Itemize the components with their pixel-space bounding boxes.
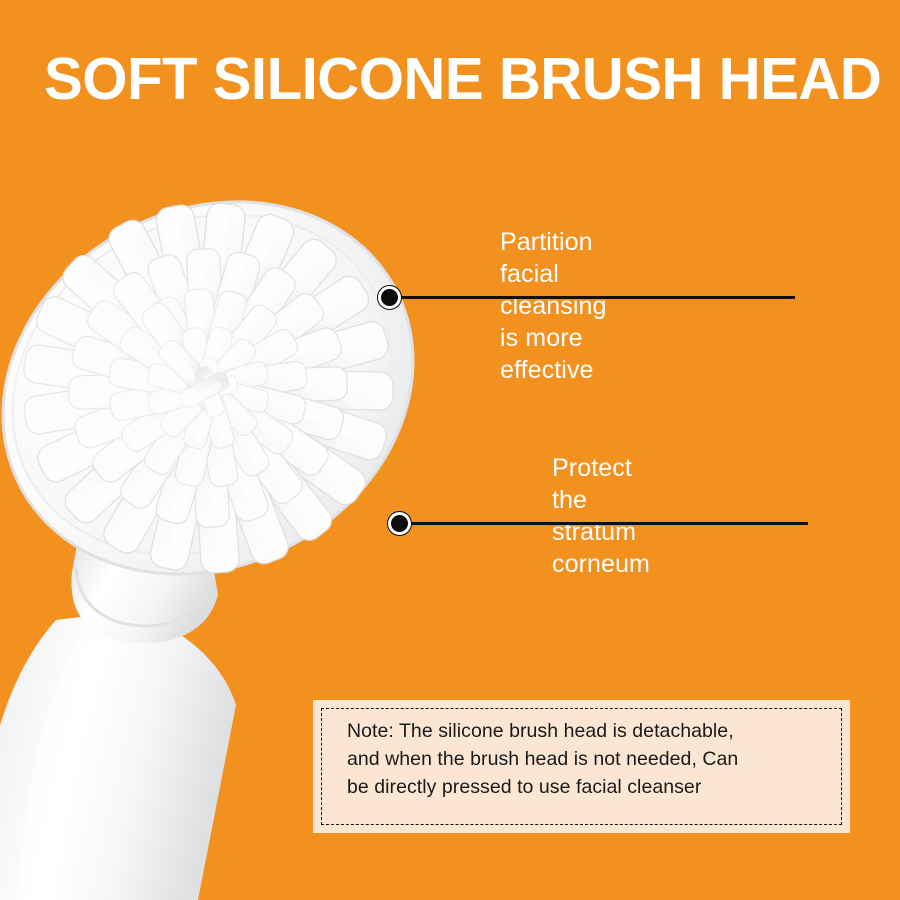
marketing-banner: SOFT SILICONE BRUSH HEAD Partition facia… — [0, 0, 900, 900]
callout-dot-icon — [377, 285, 402, 310]
callout-leader-line — [406, 522, 808, 525]
callout-dot-icon — [387, 511, 412, 536]
note-box: Note: The silicone brush head is detacha… — [313, 700, 850, 833]
note-text: Note: The silicone brush head is detacha… — [347, 717, 832, 801]
callout-leader-line — [396, 296, 795, 299]
page-title: SOFT SILICONE BRUSH HEAD — [44, 48, 862, 110]
callout-label-partition-cleansing: Partition facial cleansing is more effec… — [500, 226, 607, 386]
callout-label-protect-stratum-corneum: Protect the stratum corneum — [552, 452, 650, 580]
